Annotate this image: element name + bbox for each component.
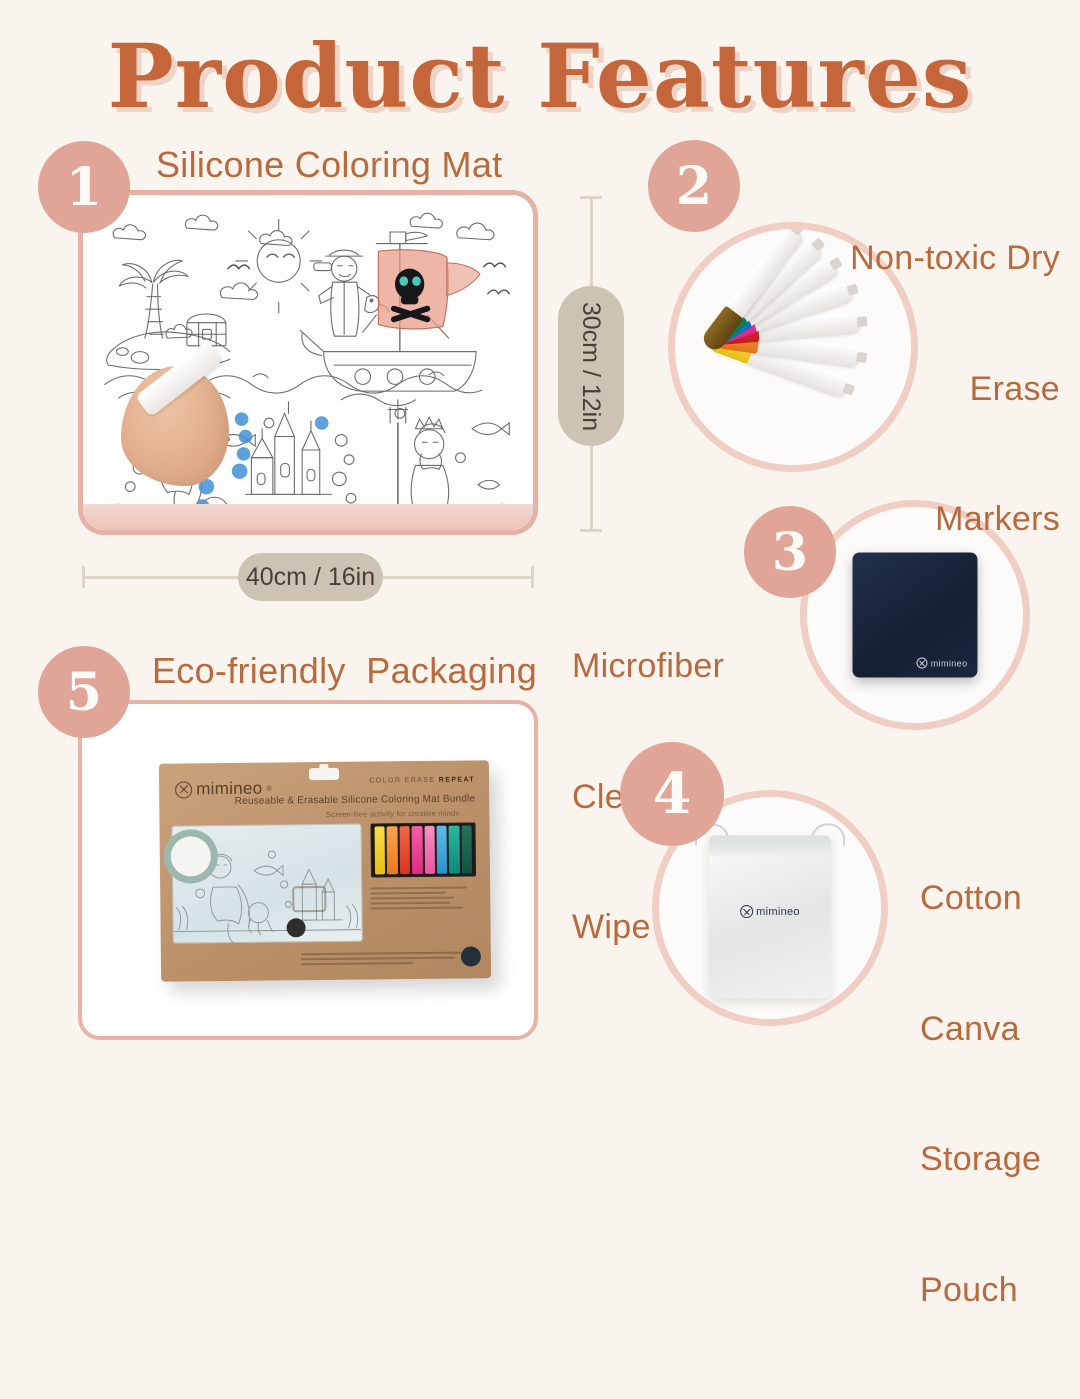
feature-label-4-line-1: Cotton (920, 877, 1041, 921)
feature-badge-2: 2 (648, 140, 740, 232)
box-brand-suffix: ® (266, 785, 271, 792)
packaging-photo-frame: mimineo ® COLOR ERASE REPEAT Reuseable &… (78, 700, 538, 1040)
certification-badge-icon (286, 918, 305, 937)
box-tagline-strong: REPEAT (439, 776, 475, 783)
feature-badge-3: 3 (744, 506, 836, 598)
mimineo-mark-icon (740, 905, 753, 918)
pouch-top-hem (709, 835, 831, 855)
height-dimension-label: 30cm / 12in (558, 286, 624, 446)
feature-label-3-line-1: Microfiber (572, 645, 724, 689)
box-headline: Reuseable & Erasable Silicone Coloring M… (235, 793, 476, 807)
window-marker-lightpink (424, 826, 435, 874)
feature-label-2-line-2: Erase (760, 368, 1060, 412)
feature-badge-1: 1 (38, 141, 130, 233)
feature-label-3-line-3: Wipe (572, 906, 724, 950)
pouch-brand-text: mimineo (756, 906, 800, 918)
width-dim-cap-left (82, 566, 85, 588)
mimineo-mark-icon (917, 658, 928, 669)
window-marker-yellow (375, 826, 386, 874)
recycle-diagram-icon (292, 886, 326, 912)
badge-number: 4 (653, 761, 692, 827)
feature-label-4-line-4: Pouch (920, 1269, 1041, 1313)
box-footer-text (301, 952, 461, 969)
height-dim-cap-bottom (580, 529, 602, 532)
box-subheadline: Screen-free activity for creative minds (326, 809, 459, 819)
window-marker-blue (436, 826, 447, 874)
box-tagline: COLOR ERASE REPEAT (369, 776, 475, 784)
sticker-inner (171, 836, 211, 876)
mat-sheet: mimineo (97, 205, 521, 504)
feature-label-4: Cotton Canva Storage Pouch (920, 790, 1041, 1399)
box-pack-contents-text (370, 886, 478, 912)
width-dim-cap-right (531, 566, 534, 588)
feature-label-2-line-1: Non-toxic Dry (760, 237, 1060, 281)
window-marker-red (399, 826, 410, 874)
hang-hole (309, 768, 339, 780)
feature-badge-5: 5 (38, 646, 130, 738)
width-dimension-label: 40cm / 16in (238, 553, 383, 601)
badge-number: 3 (772, 522, 808, 583)
window-marker-orange (387, 826, 398, 874)
window-marker-pink (412, 826, 423, 874)
retail-packaging-box-photo: mimineo ® COLOR ERASE REPEAT Reuseable &… (82, 704, 534, 1036)
mat-photo: mimineo (83, 195, 533, 530)
height-dim-cap-top (580, 196, 602, 199)
badge-number: 5 (66, 662, 102, 723)
storage-pouch: mimineo (709, 835, 831, 998)
box-seal-sticker (164, 829, 219, 884)
box-tagline-prefix: COLOR ERASE (369, 777, 438, 785)
page-title: Product Features (0, 24, 1080, 128)
window-marker-darkgreen (461, 825, 472, 873)
mat-silicone-edge (83, 504, 533, 530)
mimineo-mark-icon (175, 781, 192, 798)
pouch-brand-logo: mimineo (740, 905, 800, 918)
box-marker-window (371, 822, 477, 877)
cloth-brand-text: mimineo (931, 658, 968, 668)
feature-label-1: Silicone Coloring Mat (156, 142, 502, 188)
silicone-coloring-mat-frame: mimineo (78, 190, 538, 535)
product-features-infographic: Product Features 1 Silicone Coloring Mat (0, 0, 1080, 1080)
feature-label-4-line-3: Storage (920, 1138, 1041, 1182)
window-marker-teal (449, 826, 460, 874)
eco-badge-icon (461, 946, 481, 966)
feature-label-4-line-2: Canva (920, 1008, 1041, 1052)
badge-number: 2 (676, 156, 712, 217)
packaging-box: mimineo ® COLOR ERASE REPEAT Reuseable &… (159, 760, 491, 981)
badge-number: 1 (66, 157, 102, 218)
feature-label-5: Eco-friendly Packaging (152, 648, 537, 694)
feature-badge-4: 4 (620, 742, 724, 846)
cloth-brand-logo: mimineo (917, 658, 968, 669)
